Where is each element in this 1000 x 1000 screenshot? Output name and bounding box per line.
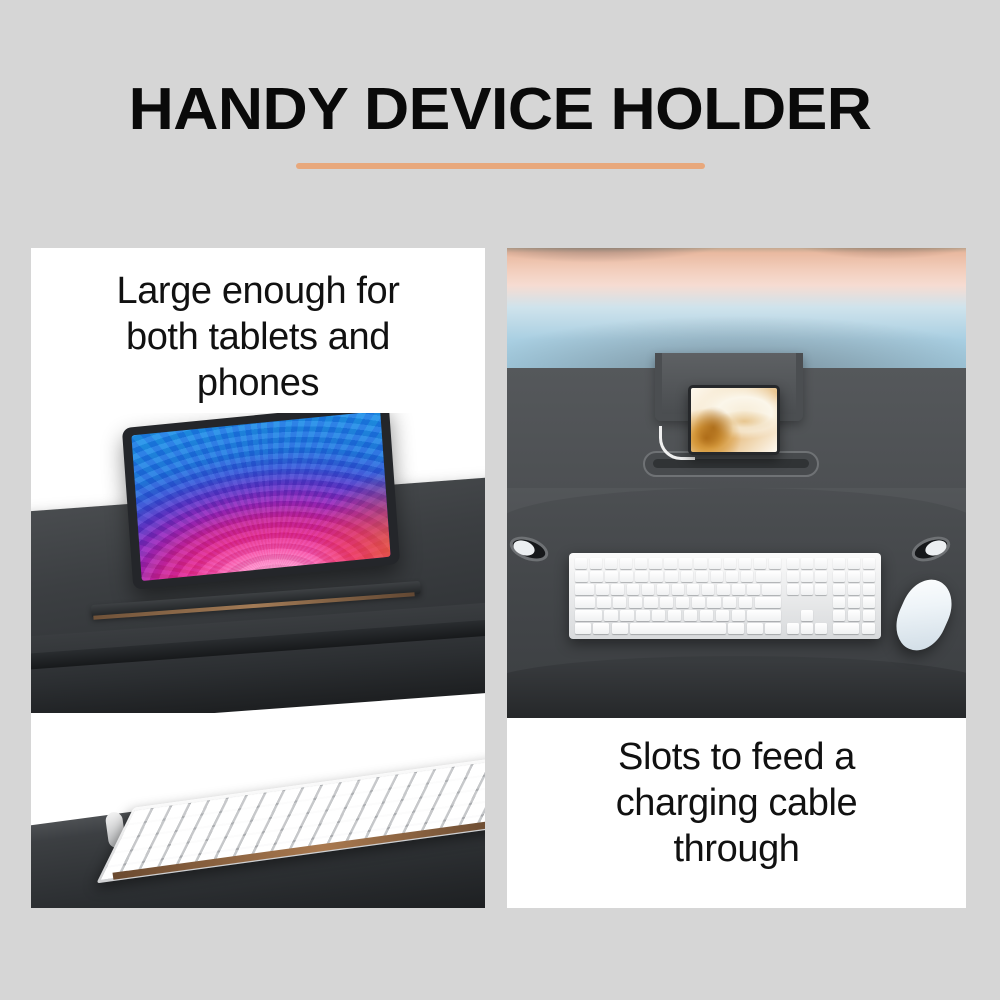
left-caption-line-1: Large enough for: [43, 268, 473, 314]
left-panel-caption: Large enough for both tablets and phones: [43, 268, 473, 406]
keyboard-row: [833, 584, 875, 595]
tablet-screen: [131, 413, 390, 581]
right-caption-line-1: Slots to feed a: [519, 734, 954, 780]
right-caption-line-3: through: [519, 826, 954, 872]
keyboard-on-desk-photo: [31, 726, 485, 908]
keyboard-row: [787, 597, 827, 608]
desk-front-edge: [507, 656, 966, 718]
left-caption-line-3: phones: [43, 360, 473, 406]
right-panel-caption: Slots to feed a charging cable through: [519, 734, 954, 872]
left-feature-panel: Large enough for both tablets and phones…: [31, 248, 485, 908]
keyboard-row: [787, 558, 827, 569]
keyboard-row: [833, 623, 875, 634]
keyboard-main-cluster: [575, 558, 781, 634]
tablet-device: [122, 413, 400, 590]
right-feature-panel: Slots to feed a charging cable through: [507, 248, 966, 908]
tablet-screen-docked: [691, 388, 777, 452]
tablet-screen-warm-overlay: [131, 413, 390, 581]
keyboard-nav-cluster: [787, 558, 827, 634]
tablet-device-docked: [688, 385, 780, 455]
keyboard-row: [833, 558, 875, 569]
keyboard-row: [575, 558, 781, 569]
tablet-in-holder-photo: 36cm: [31, 413, 485, 713]
tablet-holder-groove: [653, 459, 809, 468]
keyboard-row: [833, 571, 875, 582]
keyboard-row: [787, 571, 827, 582]
keyboard-row: [575, 571, 781, 582]
keyboard: [569, 553, 881, 639]
keyboard-row: [787, 584, 827, 595]
desk-setup-photo: [507, 248, 966, 718]
page-title: HANDY DEVICE HOLDER: [0, 78, 1000, 140]
title-divider: [296, 163, 705, 169]
header: HANDY DEVICE HOLDER: [0, 0, 1000, 248]
keyboard-row: [575, 584, 781, 595]
right-caption-line-2: charging cable: [519, 780, 954, 826]
keyboard-row: [833, 597, 875, 608]
keyboard-row: [833, 610, 875, 621]
keyboard-row: [787, 623, 827, 634]
keyboard-numpad-cluster: [833, 558, 875, 634]
keyboard-row: [575, 623, 781, 634]
keyboard-row: [575, 610, 781, 621]
keyboard-row: [787, 610, 827, 621]
keyboard-row: [575, 597, 781, 608]
left-caption-line-2: both tablets and: [43, 314, 473, 360]
